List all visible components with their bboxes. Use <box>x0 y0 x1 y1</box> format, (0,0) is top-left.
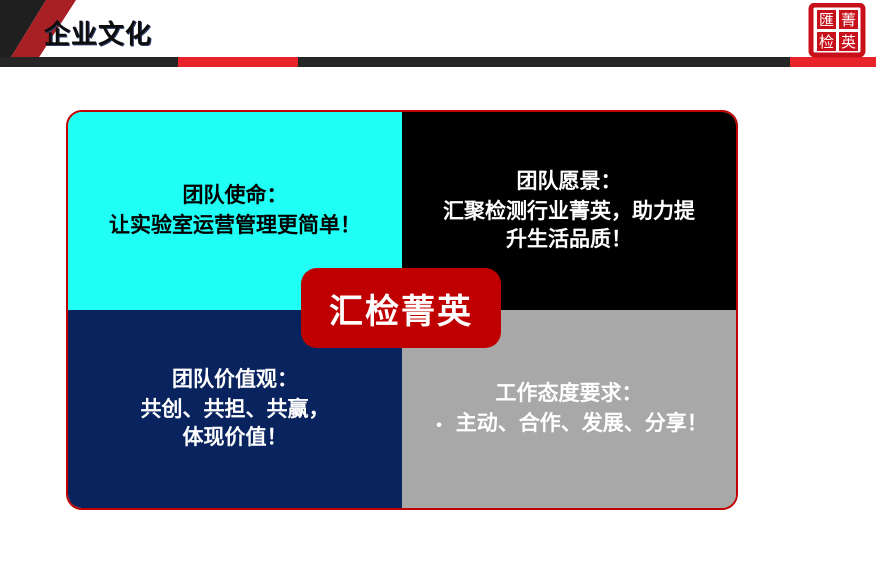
rule-segment-dark-left <box>0 57 178 67</box>
rule-segment-dark-right <box>298 57 790 67</box>
quadrant-attitude-line-1: 主动、合作、发展、分享！ <box>456 410 708 438</box>
quadrant-attitude-body: • 主动、合作、发展、分享！ <box>430 410 708 438</box>
quadrant-attitude-bullet-row: • 主动、合作、发展、分享！ <box>430 410 708 438</box>
svg-text:菁: 菁 <box>841 11 856 29</box>
page-title: 企业文化 <box>44 14 152 51</box>
svg-text:匯: 匯 <box>819 11 834 29</box>
rule-segment-red-mid <box>178 57 298 67</box>
header-rule <box>0 57 876 67</box>
quadrant-vision-line-2: 升生活品质！ <box>443 226 695 254</box>
svg-text:英: 英 <box>841 33 856 51</box>
quadrant-values-body: 共创、共担、共赢， 体现价值！ <box>141 396 330 451</box>
quadrant-vision-body: 汇聚检测行业菁英，助力提 升生活品质！ <box>443 198 695 253</box>
quadrant-vision-line-1: 汇聚检测行业菁英，助力提 <box>443 198 695 226</box>
quadrant-values-line-2: 体现价值！ <box>141 424 330 452</box>
quadrant-mission-title: 团队使命： <box>183 182 288 210</box>
quadrant-values-title: 团队价值观： <box>172 366 298 394</box>
bullet-dot-icon: • <box>436 418 442 434</box>
quadrant-mission-body: 让实验室运营管理更简单！ <box>109 212 361 240</box>
seal-logo-svg: 匯 菁 检 英 <box>808 3 866 59</box>
quadrant-attitude-title: 工作态度要求： <box>496 380 643 408</box>
svg-text:检: 检 <box>819 33 834 51</box>
quadrant-values-line-1: 共创、共担、共赢， <box>141 396 330 424</box>
quadrant-vision-title: 团队愿景： <box>517 168 622 196</box>
汇检菁英-seal-logo-icon: 匯 菁 检 英 <box>808 3 866 59</box>
quadrant-mission-line-1: 让实验室运营管理更简单！ <box>109 212 361 240</box>
center-brand-badge: 汇检菁英 <box>301 268 501 348</box>
slide-header: 企业文化 匯 菁 检 英 <box>0 0 876 68</box>
